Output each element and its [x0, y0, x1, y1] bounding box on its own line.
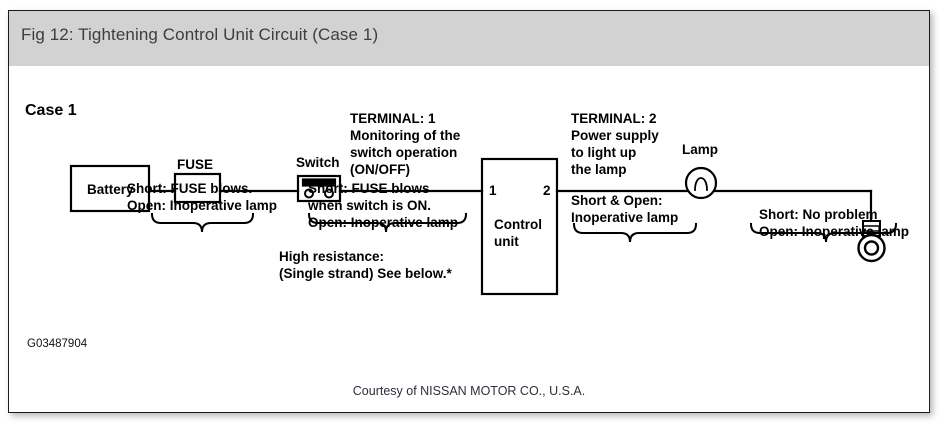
- brace-fuse-segment: [152, 214, 253, 232]
- control-unit-label-line2: unit: [494, 233, 519, 250]
- diagram-canvas: Case 1: [9, 66, 929, 413]
- terminal1-callout-line2: Monitoring of the: [350, 127, 460, 144]
- control-unit-pin-2: 2: [543, 182, 551, 199]
- terminal2-callout-line3: to light up: [571, 144, 636, 161]
- brace-control-segment: [574, 224, 696, 242]
- high-resistance-line1: High resistance:: [279, 248, 384, 265]
- ground-annotation-line1: Short: No problem: [759, 206, 878, 223]
- control-annotation-line2: Inoperative lamp: [571, 209, 678, 226]
- lamp-symbol: [686, 168, 716, 198]
- control-annotation-line1: Short & Open:: [571, 192, 663, 209]
- figure-id: G03487904: [27, 338, 87, 350]
- terminal2-callout-line4: the lamp: [571, 161, 627, 178]
- terminal1-callout-line3: switch operation: [350, 144, 457, 161]
- switch-annotation-line1: Short: FUSE blows: [308, 180, 430, 197]
- fuse-annotation-line1: Short: FUSE blows.: [127, 180, 252, 197]
- high-resistance-line2: (Single strand) See below.*: [279, 265, 452, 282]
- fuse-annotation-line2: Open: Inoperative lamp: [127, 197, 277, 214]
- switch-label: Switch: [296, 154, 340, 171]
- fuse-label: FUSE: [177, 156, 213, 173]
- lamp-label: Lamp: [682, 141, 718, 158]
- control-unit-label-line1: Control: [494, 216, 542, 233]
- page-title: Fig 12: Tightening Control Unit Circuit …: [21, 25, 378, 45]
- credit-line: Courtesy of NISSAN MOTOR CO., U.S.A.: [9, 384, 929, 398]
- terminal2-callout-line1: TERMINAL: 2: [571, 110, 657, 127]
- terminal2-callout-line2: Power supply: [571, 127, 659, 144]
- figure-title-bar: Fig 12: Tightening Control Unit Circuit …: [9, 11, 929, 66]
- terminal1-callout-line4: (ON/OFF): [350, 161, 410, 178]
- ground-annotation-line2: Open: Inoperative lamp: [759, 223, 909, 240]
- figure-viewer: Fig 12: Tightening Control Unit Circuit …: [8, 10, 930, 413]
- terminal1-callout-line1: TERMINAL: 1: [350, 110, 436, 127]
- switch-annotation-line2: when switch is ON.: [308, 197, 431, 214]
- switch-annotation-line3: Open: Inoperative lamp: [308, 214, 458, 231]
- control-unit-pin-1: 1: [489, 182, 497, 199]
